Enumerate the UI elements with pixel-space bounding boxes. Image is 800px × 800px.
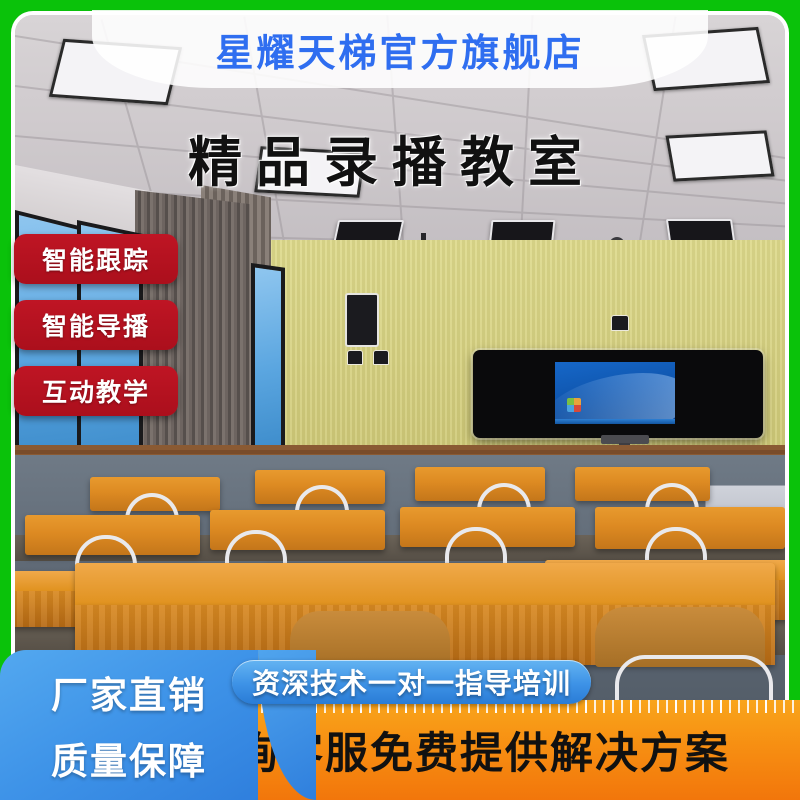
display-screen xyxy=(555,362,675,424)
wall-speaker-small xyxy=(373,350,389,365)
product-banner: 星耀天梯官方旗舰店 精品录播教室 智能跟踪 智能导播 互动教学 咨询客服免费提供… xyxy=(0,0,800,800)
guarantee-panel: 厂家直销 质量保障 xyxy=(0,650,258,800)
guarantee-line-factory: 厂家直销 xyxy=(51,665,207,719)
shop-name: 星耀天梯官方旗舰店 xyxy=(215,22,584,77)
front-display xyxy=(473,350,763,438)
feature-badge-tracking[interactable]: 智能跟踪 xyxy=(14,234,178,284)
window xyxy=(251,263,285,456)
wall-speaker-small xyxy=(347,350,363,365)
windows-logo-icon xyxy=(567,398,581,412)
feature-badge-list: 智能跟踪 智能导播 互动教学 xyxy=(14,234,178,416)
guarantee-line-quality: 质量保障 xyxy=(51,731,207,785)
wallpaper-swoosh xyxy=(555,362,675,424)
training-pill-label: 资深技术一对一指导培训 xyxy=(252,662,571,702)
wall-speaker xyxy=(345,293,379,347)
taskbar xyxy=(555,419,675,424)
wall-speaker-small xyxy=(611,315,629,331)
feature-badge-interactive[interactable]: 互动教学 xyxy=(14,366,178,416)
page-title: 精品录播教室 xyxy=(0,118,770,197)
training-pill[interactable]: 资深技术一对一指导培训 xyxy=(232,660,591,704)
desk xyxy=(75,563,775,605)
shop-name-band: 星耀天梯官方旗舰店 xyxy=(92,10,708,88)
feature-badge-director[interactable]: 智能导播 xyxy=(14,300,178,350)
